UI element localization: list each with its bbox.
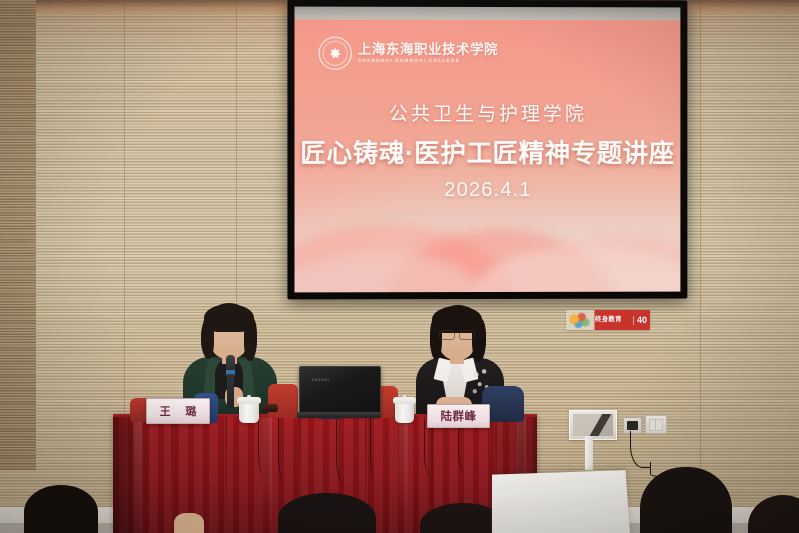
seal-core-icon bbox=[330, 48, 341, 59]
cable bbox=[336, 414, 363, 486]
school-name-cn: 上海东海职业技术学院 bbox=[358, 43, 498, 57]
anniversary-number: 40 bbox=[633, 316, 650, 325]
drape-fold bbox=[225, 417, 227, 533]
hair bbox=[244, 317, 257, 361]
wall-left-panel bbox=[0, 0, 36, 470]
laptop-brand-label: Lenovo bbox=[312, 377, 329, 382]
tea-cup bbox=[239, 397, 259, 423]
chair bbox=[268, 384, 298, 418]
slide-logo-text: 上海东海职业技术学院 SHANGHAI DONGHAI COLLEGE bbox=[358, 43, 498, 63]
slide-title: 匠心铸魂·医护工匠精神专题讲座 bbox=[294, 133, 680, 170]
wall-conduit bbox=[585, 436, 593, 470]
cable bbox=[258, 417, 273, 475]
cable bbox=[370, 414, 381, 478]
anniversary-logo-icon bbox=[566, 310, 593, 330]
slide-text-block: 公共卫生与护理学院 匠心铸魂·医护工匠精神专题讲座 2026.4.1 bbox=[294, 99, 680, 202]
hair bbox=[472, 318, 486, 362]
hair bbox=[202, 317, 214, 359]
audience-head bbox=[24, 485, 98, 533]
wall-seam bbox=[700, 0, 701, 470]
anniversary-banner: 终身教育 40 bbox=[566, 310, 650, 330]
screen-top-strip bbox=[294, 7, 680, 21]
school-seal-icon bbox=[319, 37, 352, 70]
drape-highlight bbox=[399, 417, 408, 533]
microphone-icon bbox=[226, 355, 235, 407]
name-plate-right: 陆群峰 bbox=[427, 404, 490, 428]
audience-hand bbox=[174, 513, 204, 533]
mic-head bbox=[226, 355, 235, 371]
name-plate-left: 王 璐 bbox=[146, 398, 210, 424]
av-wall-panel bbox=[569, 410, 617, 440]
laptop-lid: Lenovo bbox=[299, 366, 381, 415]
drape-fold bbox=[171, 417, 173, 533]
laptop-base bbox=[297, 412, 381, 418]
school-name-en: SHANGHAI DONGHAI COLLEGE bbox=[358, 59, 498, 64]
name-plate-right-text: 陆群峰 bbox=[441, 408, 477, 424]
projection-screen: 上海东海职业技术学院 SHANGHAI DONGHAI COLLEGE 公共卫生… bbox=[287, 0, 687, 299]
drape-highlight bbox=[133, 417, 142, 533]
cable bbox=[278, 417, 297, 483]
glasses-icon bbox=[439, 330, 475, 338]
slide-date: 2026.4.1 bbox=[294, 179, 680, 202]
mic-body bbox=[227, 374, 234, 408]
av-wall-panel-inner bbox=[573, 414, 613, 436]
slide-subtitle: 公共卫生与护理学院 bbox=[294, 99, 680, 126]
lecture-photo-scene: 上海东海职业技术学院 SHANGHAI DONGHAI COLLEGE 公共卫生… bbox=[0, 0, 799, 533]
anniversary-text: 终身教育 bbox=[593, 317, 633, 323]
mic-receiver bbox=[262, 404, 278, 412]
name-plate-left-text: 王 璐 bbox=[154, 403, 203, 419]
audience-paper bbox=[492, 470, 630, 533]
cup-knob bbox=[247, 395, 251, 399]
laptop: Lenovo bbox=[297, 366, 381, 418]
projection-screen-surface: 上海东海职业技术学院 SHANGHAI DONGHAI COLLEGE 公共卫生… bbox=[294, 7, 680, 293]
cup-body bbox=[239, 402, 259, 423]
wall-seam bbox=[124, 0, 125, 470]
tea-cup bbox=[395, 397, 414, 423]
slide-logo: 上海东海职业技术学院 SHANGHAI DONGHAI COLLEGE bbox=[319, 37, 498, 70]
cup-body bbox=[395, 402, 414, 423]
